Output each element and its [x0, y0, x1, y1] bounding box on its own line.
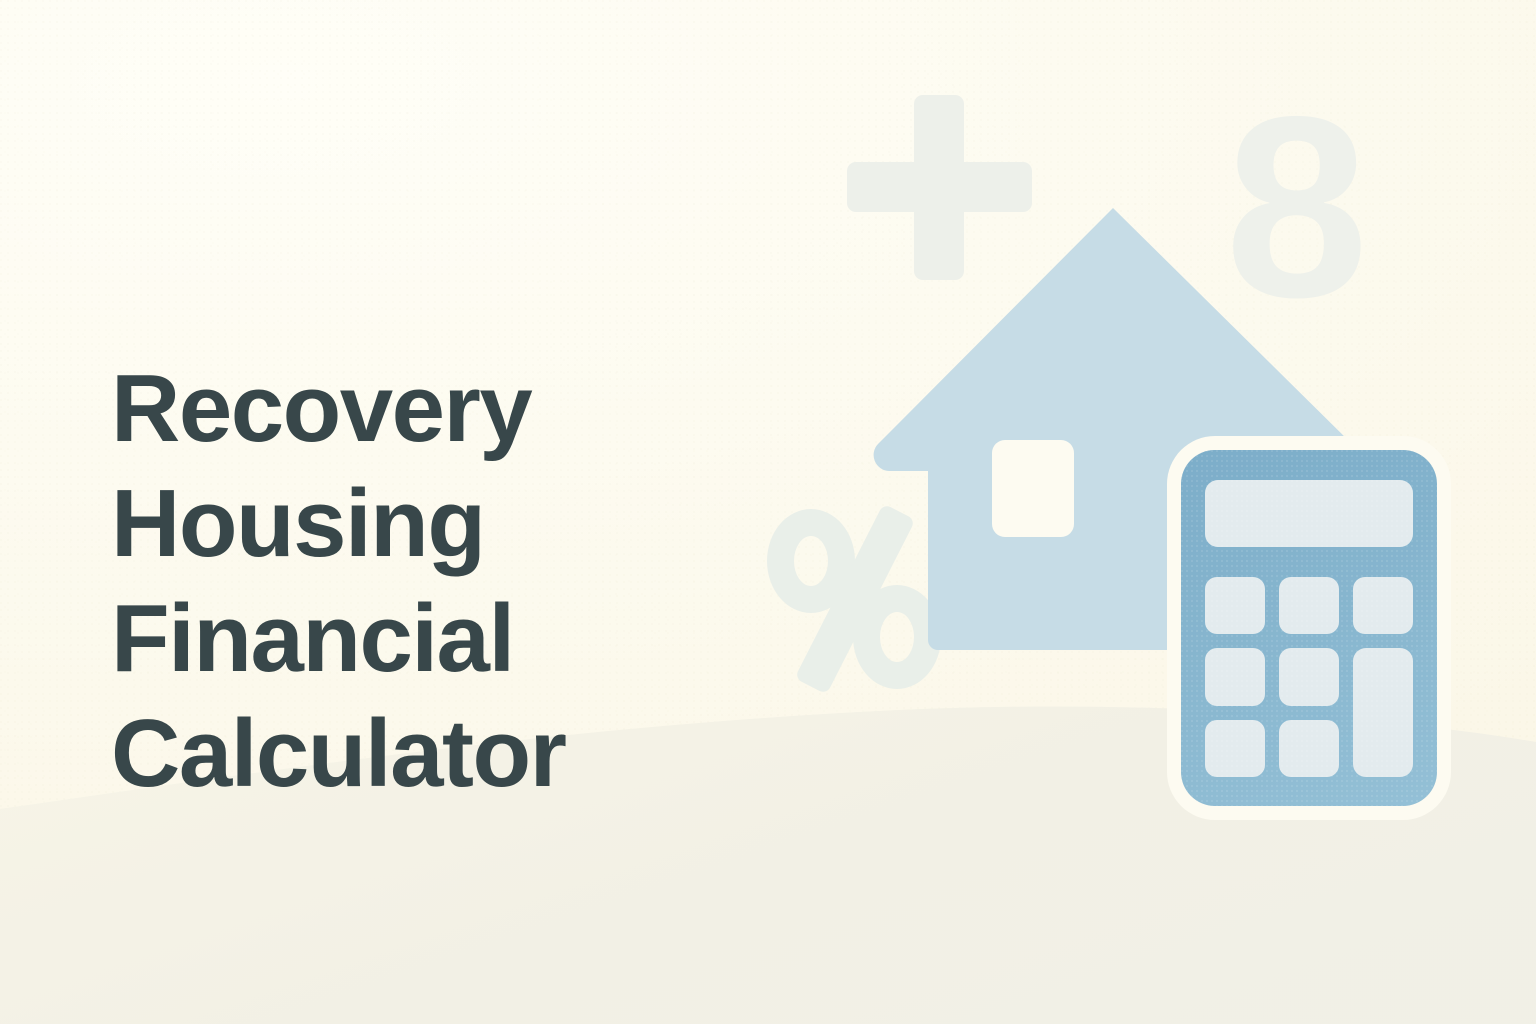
calculator-key — [1279, 648, 1339, 705]
calculator-key-equals — [1353, 648, 1413, 777]
calculator-icon — [1181, 450, 1437, 806]
page-title-line-2: Housing — [111, 466, 731, 581]
calculator-key — [1353, 577, 1413, 634]
page-title-line-1: Recovery — [111, 351, 731, 466]
hero-banner: 8 Recovery Housing Financial Calculator — [0, 0, 1536, 1024]
page-title: Recovery Housing Financial Calculator — [111, 351, 731, 811]
calculator-display — [1205, 480, 1413, 547]
calculator-key — [1279, 577, 1339, 634]
page-title-line-3: Financial — [111, 581, 731, 696]
calculator-keypad — [1205, 577, 1413, 777]
page-title-line-4: Calculator — [111, 696, 731, 811]
calculator-key — [1205, 648, 1265, 705]
calculator-key — [1205, 577, 1265, 634]
calculator-key — [1205, 720, 1265, 777]
calculator-key — [1279, 720, 1339, 777]
